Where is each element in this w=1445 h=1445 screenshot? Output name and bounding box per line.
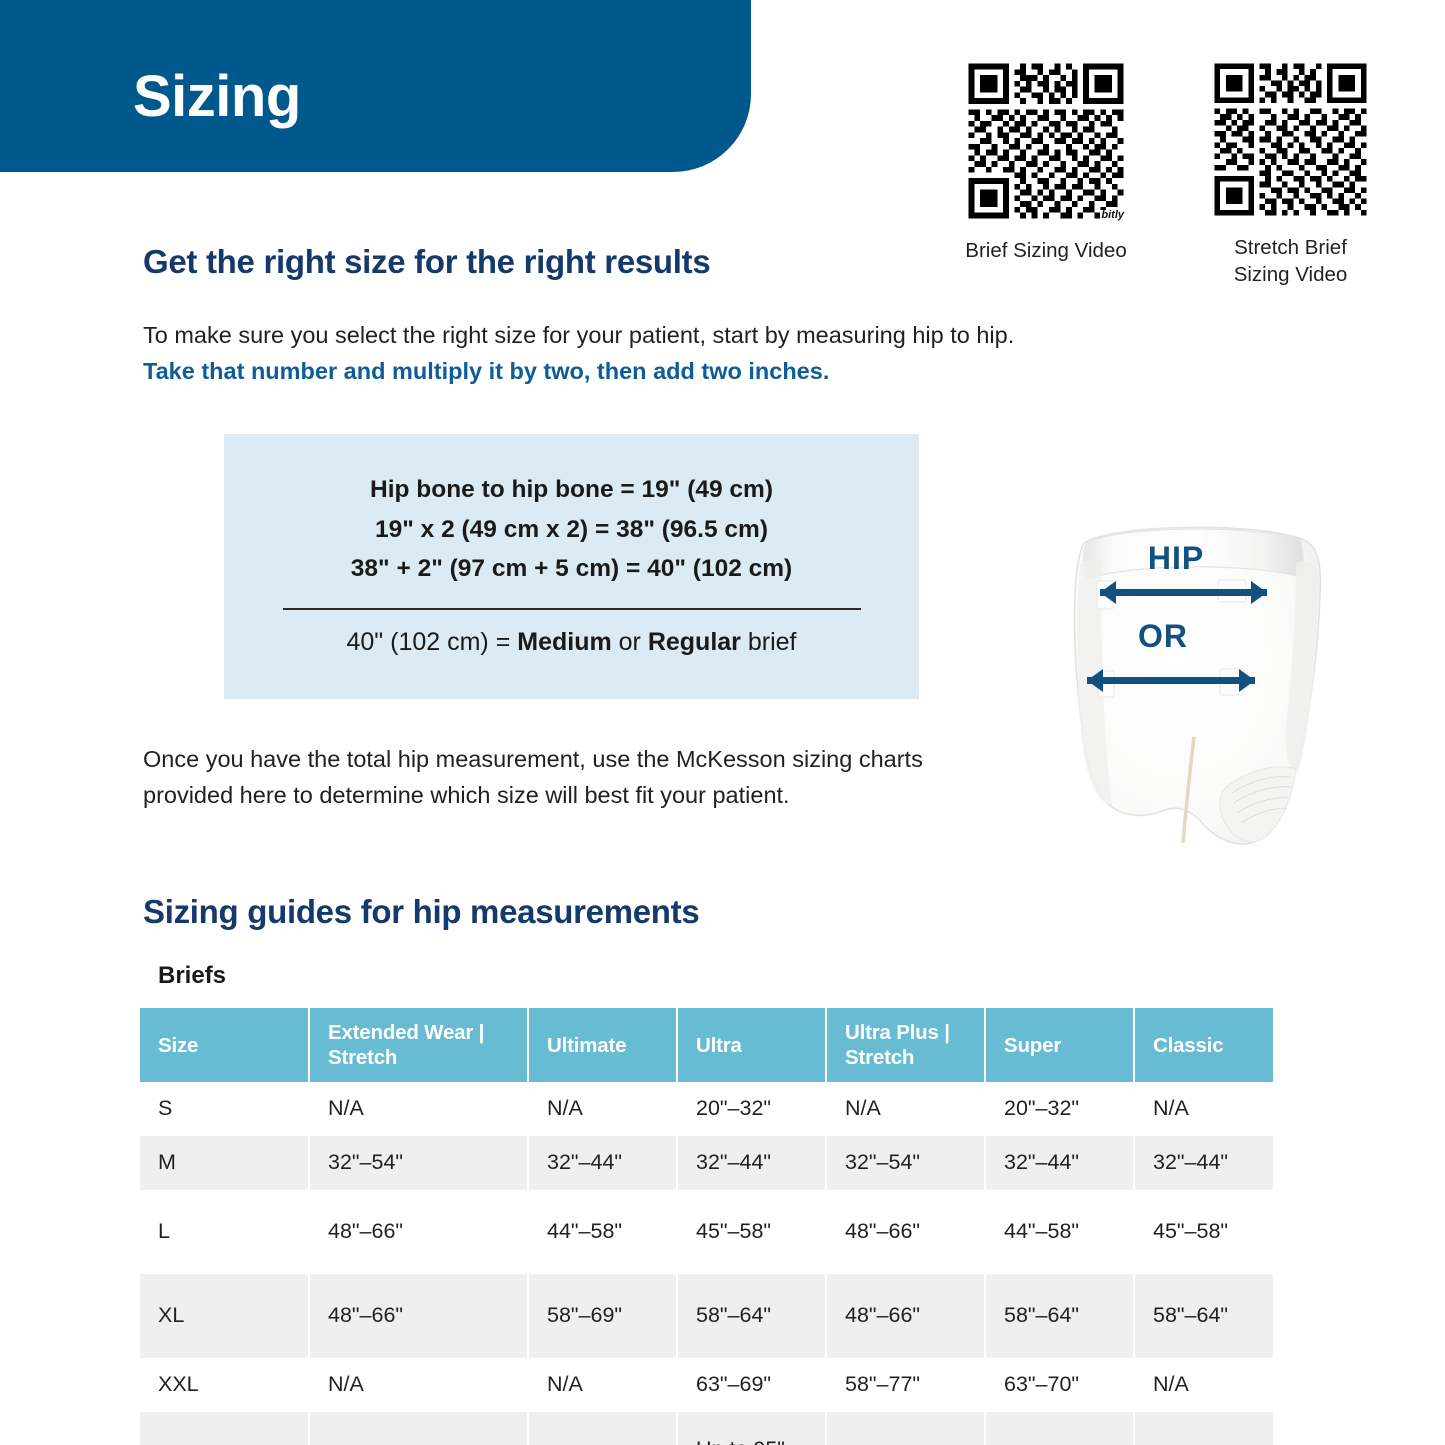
column-header-extended-wear: Extended Wear | Stretch (309, 1008, 528, 1082)
table-row: Bariatric N/A N/A Up to 95" Waist 58"–77… (140, 1412, 1273, 1445)
table-header-row: Size Extended Wear | Stretch Ultimate Ul… (140, 1008, 1273, 1082)
calc-divider (283, 608, 861, 610)
cell-ultra: 20"–32" (677, 1082, 826, 1136)
column-header-ultra: Ultra (677, 1008, 826, 1082)
brief-diagram-icon: HIP OR (1050, 505, 1350, 853)
cell-ultraplus: 48"–66" (826, 1274, 985, 1358)
column-header-ultimate: Ultimate (528, 1008, 677, 1082)
table-header: Size Extended Wear | Stretch Ultimate Ul… (140, 1008, 1273, 1082)
cell-extended: 48"–66" (309, 1190, 528, 1274)
calc-result-size: Medium (517, 628, 611, 656)
cell-classic: 45"–58" (1134, 1190, 1273, 1274)
cell-ultra: 32"–44" (677, 1136, 826, 1190)
table-row: XL 48"–66" 58"–69" 58"–64" 48"–66" 58"–6… (140, 1274, 1273, 1358)
cell-ultraplus: N/A (826, 1082, 985, 1136)
cell-size: XXL (140, 1358, 309, 1412)
hip-label: HIP (1148, 540, 1204, 576)
table-title-briefs: Briefs (158, 962, 226, 990)
cell-super: 32"–44" (985, 1136, 1134, 1190)
cell-super: 20"–32" (985, 1082, 1134, 1136)
cell-size: L (140, 1190, 309, 1274)
brief-product-illustration: HIP OR (1050, 505, 1350, 853)
cell-super: N/A (985, 1412, 1134, 1445)
instructions-paragraph: Once you have the total hip measurement,… (143, 742, 1003, 813)
qr-code-stretch-brief-sizing-video-wrap[interactable] (1209, 58, 1372, 221)
cell-classic: N/A (1134, 1082, 1273, 1136)
sizing-guides-heading: Sizing guides for hip measurements (143, 893, 699, 931)
cell-ultraplus: 58"–77" (826, 1358, 985, 1412)
qr-block-stretch-brief-sizing-video[interactable]: Stretch Brief Sizing Video (1209, 58, 1372, 288)
table-body: S N/A N/A 20"–32" N/A 20"–32" N/A M 32"–… (140, 1082, 1273, 1445)
column-header-ultra-plus: Ultra Plus | Stretch (826, 1008, 985, 1082)
cell-ultimate: N/A (528, 1412, 677, 1445)
cell-ultimate: 58"–69" (528, 1274, 677, 1358)
cell-ultimate: N/A (528, 1358, 677, 1412)
cell-extended: 32"–54" (309, 1136, 528, 1190)
cell-super: 63"–70" (985, 1358, 1134, 1412)
qr-code-brief-sizing-video-wrap[interactable]: bitly (963, 58, 1129, 224)
cell-super: 44"–58" (985, 1190, 1134, 1274)
cell-size: XL (140, 1274, 309, 1358)
cell-ultraplus: 48"–66" (826, 1190, 985, 1274)
cell-ultimate: 44"–58" (528, 1190, 677, 1274)
cell-extended: 48"–66" (309, 1274, 528, 1358)
column-header-size: Size (140, 1008, 309, 1082)
page-title: Sizing (133, 68, 301, 126)
cell-classic: N/A (1134, 1412, 1273, 1445)
cell-size: Bariatric (140, 1412, 309, 1445)
qr-caption-brief-sizing-video: Brief Sizing Video (963, 238, 1129, 265)
intro-heading: Get the right size for the right results (143, 243, 710, 281)
calc-line-3: 38" + 2" (97 cm + 5 cm) = 40" (102 cm) (351, 549, 792, 589)
cell-super: 58"–64" (985, 1274, 1134, 1358)
cell-size: S (140, 1082, 309, 1136)
cell-ultimate: 32"–44" (528, 1136, 677, 1190)
qr-code-icon[interactable] (963, 58, 1129, 224)
or-label: OR (1138, 618, 1188, 654)
table-row: L 48"–66" 44"–58" 45"–58" 48"–66" 44"–58… (140, 1190, 1273, 1274)
calc-line-1: Hip bone to hip bone = 19" (49 cm) (370, 470, 773, 510)
table-row: M 32"–54" 32"–44" 32"–44" 32"–54" 32"–44… (140, 1136, 1273, 1190)
cell-ultra: 63"–69" (677, 1358, 826, 1412)
calc-line-2: 19" x 2 (49 cm x 2) = 38" (96.5 cm) (375, 510, 768, 550)
header-banner: Sizing (0, 0, 751, 172)
calc-result: 40" (102 cm) = Medium or Regular brief (346, 628, 796, 657)
qr-code-icon[interactable] (1209, 58, 1372, 221)
intro-paragraph-emphasis: Take that number and multiply it by two,… (143, 358, 829, 384)
table-row: XXL N/A N/A 63"–69" 58"–77" 63"–70" N/A (140, 1358, 1273, 1412)
cell-extended: N/A (309, 1412, 528, 1445)
cell-extended: N/A (309, 1082, 528, 1136)
cell-size: M (140, 1136, 309, 1190)
cell-classic: 58"–64" (1134, 1274, 1273, 1358)
column-header-super: Super (985, 1008, 1134, 1082)
cell-ultraplus: 58"–77" (826, 1412, 985, 1445)
calculation-box: Hip bone to hip bone = 19" (49 cm) 19" x… (224, 434, 919, 699)
cell-ultraplus: 32"–54" (826, 1136, 985, 1190)
qr-caption-stretch-brief-sizing-video: Stretch Brief Sizing Video (1209, 235, 1372, 288)
table-row: S N/A N/A 20"–32" N/A 20"–32" N/A (140, 1082, 1273, 1136)
calc-result-conjunction: or (612, 628, 648, 656)
column-header-classic: Classic (1134, 1008, 1273, 1082)
calc-result-prefix: 40" (102 cm) = (346, 628, 517, 656)
qr-block-brief-sizing-video[interactable]: bitly Brief Sizing Video (963, 58, 1129, 265)
calc-result-alt-size: Regular (648, 628, 741, 656)
intro-paragraph: To make sure you select the right size f… (143, 318, 1043, 389)
cell-ultimate: N/A (528, 1082, 677, 1136)
cell-extended: N/A (309, 1358, 528, 1412)
cell-ultra: 45"–58" (677, 1190, 826, 1274)
calc-result-suffix: brief (741, 628, 797, 656)
bitly-logo: bitly (1100, 210, 1125, 221)
cell-ultra: Up to 95" Waist (677, 1412, 826, 1445)
cell-classic: 32"–44" (1134, 1136, 1273, 1190)
sizing-page: Sizing (0, 0, 1445, 1445)
cell-classic: N/A (1134, 1358, 1273, 1412)
cell-ultra: 58"–64" (677, 1274, 826, 1358)
intro-paragraph-plain: To make sure you select the right size f… (143, 322, 1014, 348)
briefs-sizing-table: Size Extended Wear | Stretch Ultimate Ul… (140, 1008, 1273, 1445)
